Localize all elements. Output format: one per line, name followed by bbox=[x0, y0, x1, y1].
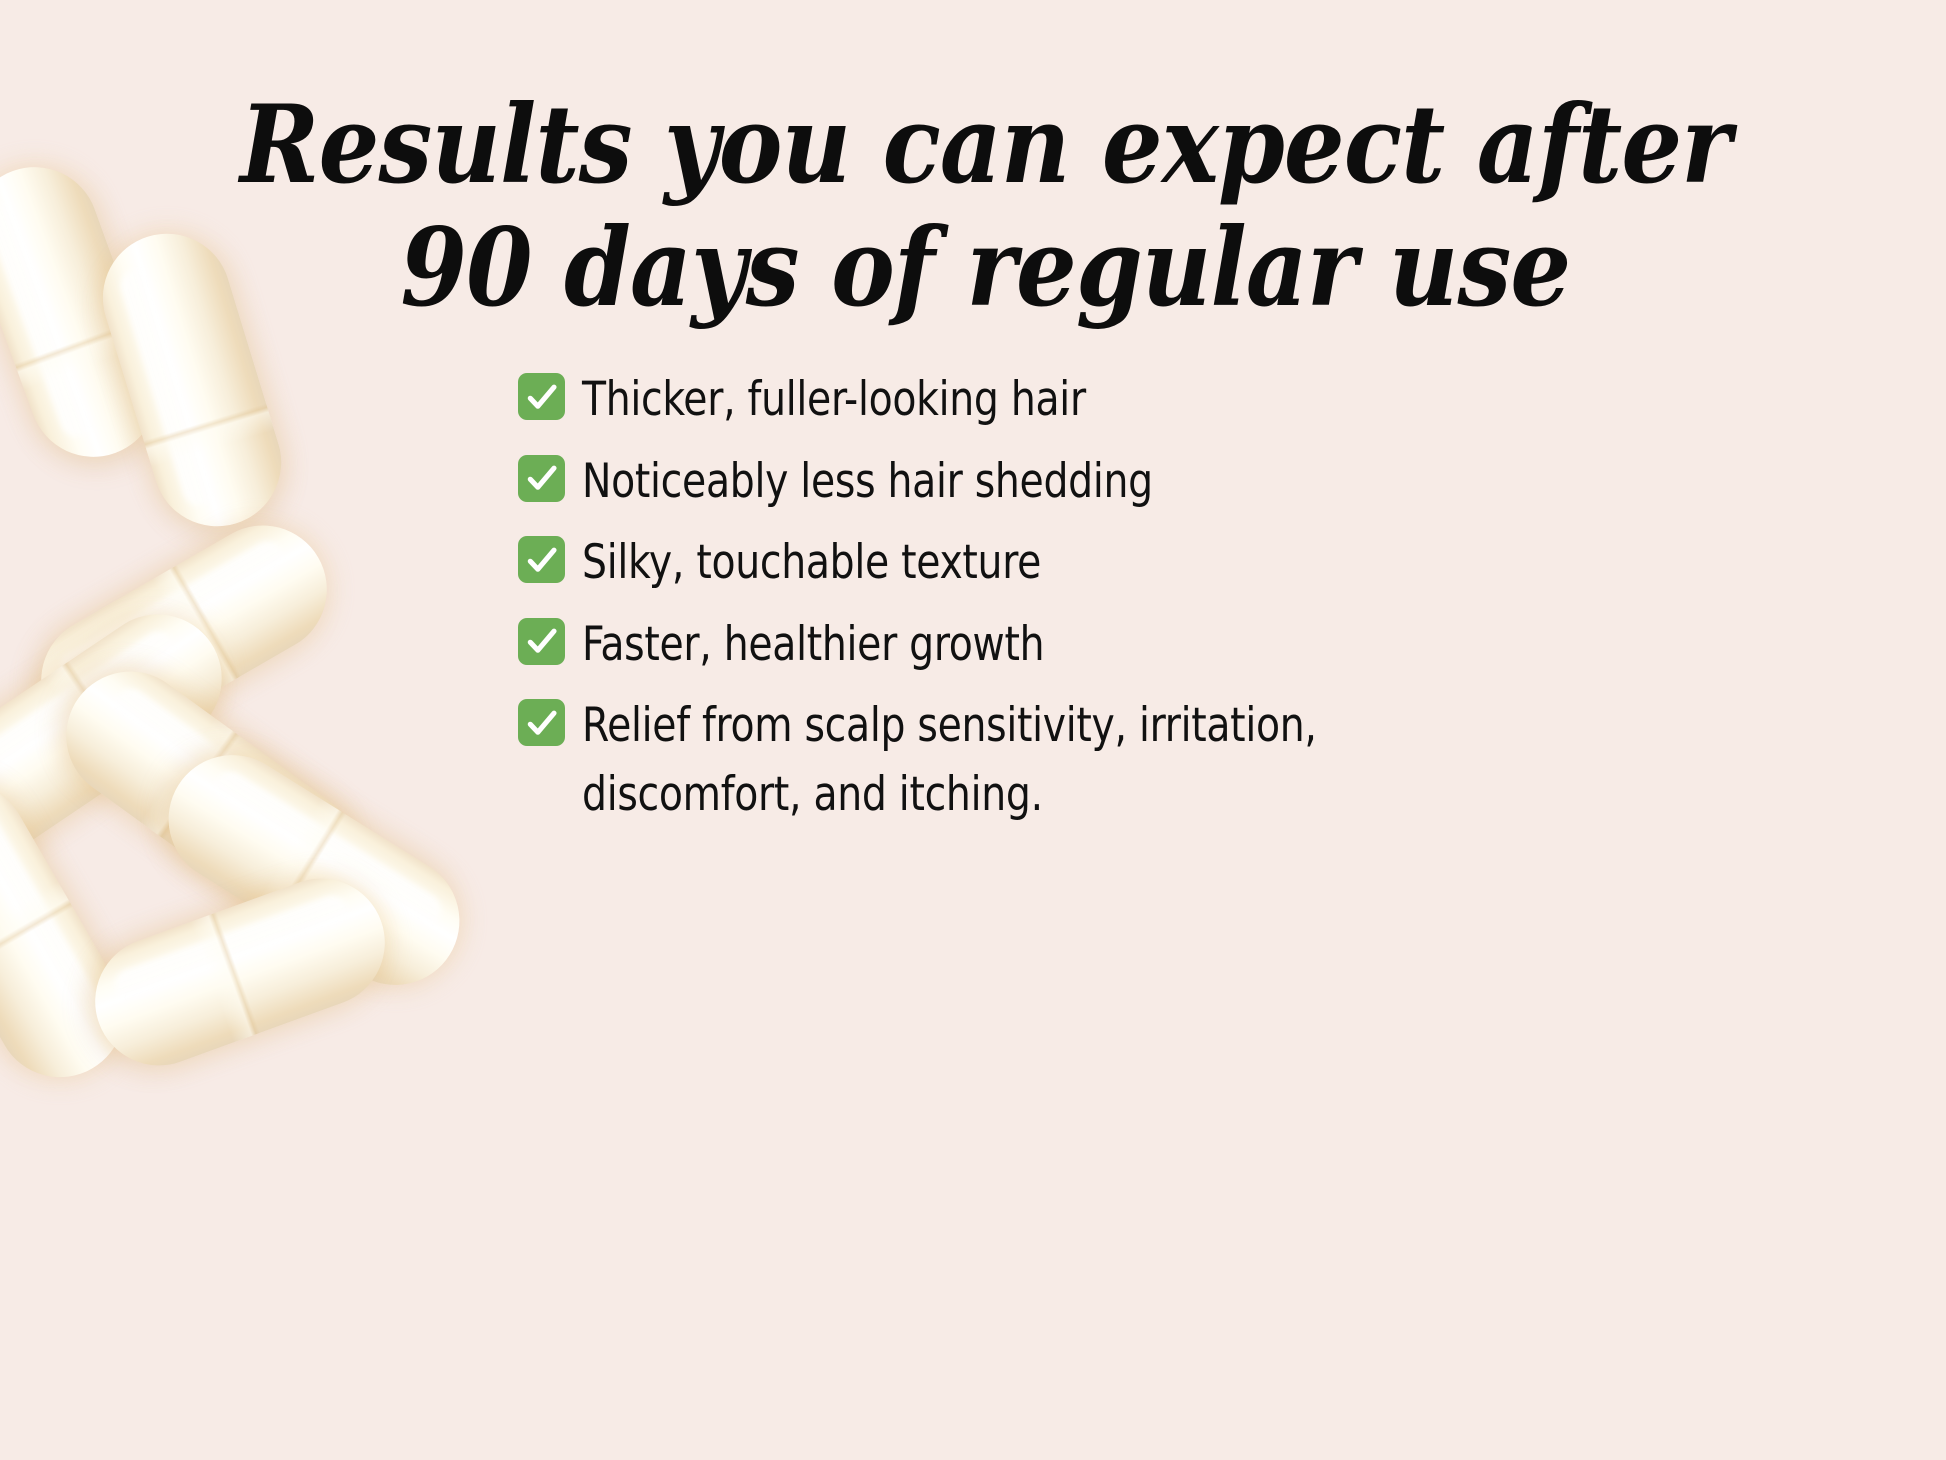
capsule-shape bbox=[0, 759, 147, 1100]
page-title: Results you can expect after 90 days of … bbox=[112, 84, 1834, 330]
checkmark-icon bbox=[518, 455, 565, 502]
checkmark-icon bbox=[518, 536, 565, 583]
checkmark-icon bbox=[518, 618, 565, 665]
list-item: Faster, healthier growth bbox=[518, 611, 1518, 680]
checkmark-icon bbox=[518, 373, 565, 420]
benefits-checklist: Thicker, fuller-looking hairNoticeably l… bbox=[518, 366, 1518, 843]
list-item-label: Faster, healthier growth bbox=[582, 611, 1044, 680]
list-item-label: Silky, touchable texture bbox=[582, 529, 1041, 598]
list-item: Noticeably less hair shedding bbox=[518, 448, 1518, 517]
page-title-line-2: 90 days of regular use bbox=[137, 207, 1834, 330]
capsule-shape bbox=[0, 590, 247, 881]
checkmark-icon bbox=[518, 699, 565, 746]
capsule-shape bbox=[18, 502, 350, 768]
list-item: Silky, touchable texture bbox=[518, 529, 1518, 598]
list-item-label: Relief from scalp sensitivity, irritatio… bbox=[582, 692, 1317, 829]
poster-canvas: Results you can expect after 90 days of … bbox=[0, 0, 1946, 1460]
list-item-label: Noticeably less hair shedding bbox=[582, 448, 1153, 517]
list-item: Relief from scalp sensitivity, irritatio… bbox=[518, 692, 1518, 829]
page-title-line-1: Results you can expect after bbox=[137, 84, 1834, 207]
capsule-shape bbox=[144, 731, 483, 1009]
capsule-shape bbox=[41, 646, 383, 944]
list-item: Thicker, fuller-looking hair bbox=[518, 366, 1518, 435]
list-item-label: Thicker, fuller-looking hair bbox=[582, 366, 1086, 435]
capsule-shape bbox=[77, 861, 403, 1084]
